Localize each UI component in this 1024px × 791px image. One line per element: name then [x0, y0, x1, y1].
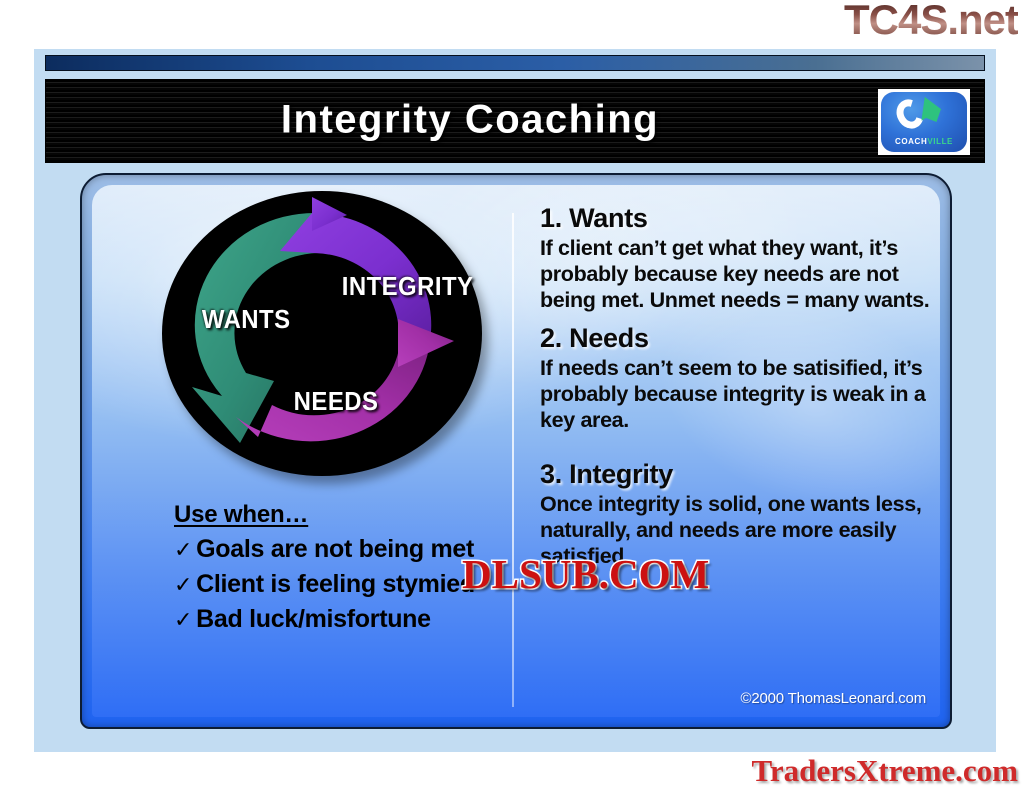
content-panel-border: WANTS INTEGRITY NEEDS Use when… ✓ Goals …: [80, 173, 952, 729]
cycle-label-integrity: INTEGRITY: [342, 271, 474, 302]
list-item-label: Goals are not being met: [196, 535, 474, 564]
frame-top-accent-strip: [45, 55, 985, 71]
cycle-label-needs: NEEDS: [294, 386, 379, 417]
numbered-sections: 1. Wants If client can’t get what they w…: [540, 203, 940, 569]
logo-word-ville: VILLE: [927, 137, 953, 146]
section-heading: 2. Needs: [540, 323, 940, 354]
cycle-label-wants: WANTS: [202, 304, 291, 335]
tradersxtreme-watermark: TradersXtreme.com: [751, 753, 1018, 789]
content-panel: WANTS INTEGRITY NEEDS Use when… ✓ Goals …: [92, 185, 940, 717]
list-item: ✓ Goals are not being met: [174, 535, 504, 564]
slide-title: Integrity Coaching: [46, 98, 984, 143]
copyright-notice: ©2000 ThomasLeonard.com: [741, 690, 926, 707]
list-item: ✓ Bad luck/misfortune: [174, 605, 504, 634]
check-icon: ✓: [174, 572, 192, 598]
coachville-logo-tile: COACHVILLE: [881, 92, 967, 152]
section-body: If client can’t get what they want, it’s…: [540, 235, 940, 313]
coachville-wordmark: COACHVILLE: [881, 137, 967, 146]
logo-word-coach: COACH: [895, 137, 927, 146]
tc4s-watermark: TC4S.net: [844, 0, 1018, 42]
section-body: If needs can’t seem to be satisified, it…: [540, 355, 940, 433]
list-item-label: Client is feeling stymied: [196, 570, 475, 599]
check-icon: ✓: [174, 537, 192, 563]
coachville-logo: COACHVILLE: [878, 89, 970, 155]
use-when-block: Use when… ✓ Goals are not being met ✓ Cl…: [174, 501, 504, 640]
section-heading: 1. Wants: [540, 203, 940, 234]
list-item-label: Bad luck/misfortune: [196, 605, 431, 634]
slide-frame: Integrity Coaching COACHVILLE: [34, 49, 996, 752]
list-item: ✓ Client is feeling stymied: [174, 570, 504, 599]
wants-needs-integrity-cycle-diagram: WANTS INTEGRITY NEEDS: [162, 191, 482, 481]
slide-title-bar: Integrity Coaching COACHVILLE: [45, 79, 985, 163]
column-divider: [512, 213, 514, 707]
section-needs: 2. Needs If needs can’t seem to be satis…: [540, 323, 940, 433]
use-when-heading: Use when…: [174, 501, 504, 529]
section-heading: 3. Integrity: [540, 459, 940, 490]
dlsub-watermark: DLSUB.COM: [462, 550, 709, 598]
section-wants: 1. Wants If client can’t get what they w…: [540, 203, 940, 313]
check-icon: ✓: [174, 607, 192, 633]
